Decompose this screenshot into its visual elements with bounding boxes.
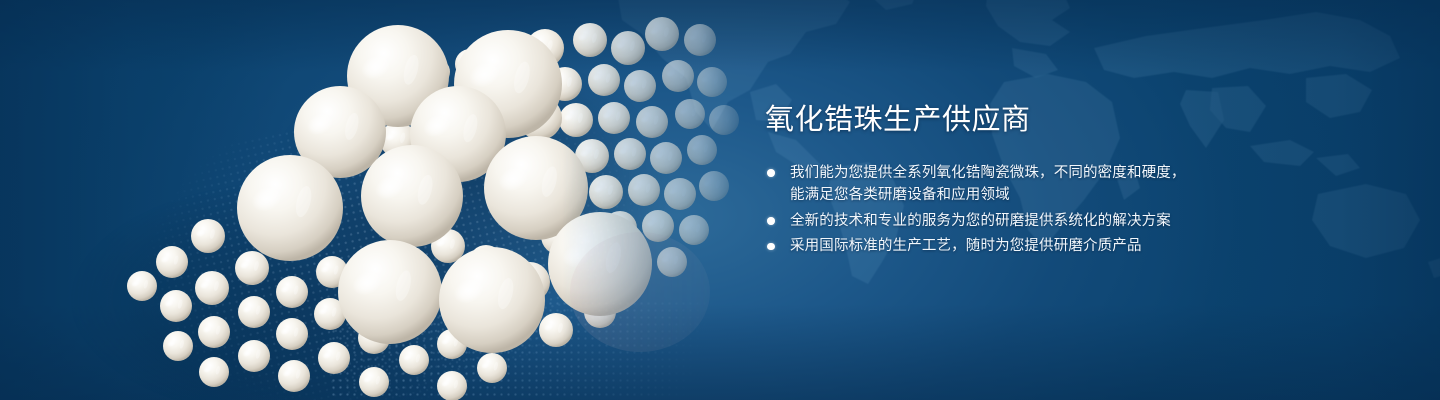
bullet-line: 我们能为您提供全系列氧化锆陶瓷微珠，不同的密度和硬度，	[790, 162, 1235, 185]
bullet-line: 全新的技术和专业的服务为您的研磨提供系统化的解决方案	[790, 210, 1235, 233]
list-item: 我们能为您提供全系列氧化锆陶瓷微珠，不同的密度和硬度， 能满足您各类研磨设备和应…	[765, 162, 1235, 207]
bullet-line: 采用国际标准的生产工艺，随时为您提供研磨介质产品	[790, 235, 1235, 258]
zirconia-beads-image	[0, 0, 760, 400]
bullet-line: 能满足您各类研磨设备和应用领域	[790, 184, 1235, 207]
bullet-dot-icon	[767, 169, 775, 177]
list-item: 采用国际标准的生产工艺，随时为您提供研磨介质产品	[765, 235, 1235, 258]
banner-headline: 氧化锆珠生产供应商	[765, 104, 1235, 138]
list-item: 全新的技术和专业的服务为您的研磨提供系统化的解决方案	[765, 210, 1235, 233]
hero-banner: 氧化锆珠生产供应商 我们能为您提供全系列氧化锆陶瓷微珠，不同的密度和硬度， 能满…	[0, 0, 1440, 400]
banner-copy: 氧化锆珠生产供应商 我们能为您提供全系列氧化锆陶瓷微珠，不同的密度和硬度， 能满…	[765, 104, 1235, 258]
bullet-dot-icon	[767, 217, 775, 225]
bullet-dot-icon	[767, 243, 775, 251]
banner-bullet-list: 我们能为您提供全系列氧化锆陶瓷微珠，不同的密度和硬度， 能满足您各类研磨设备和应…	[765, 162, 1235, 258]
